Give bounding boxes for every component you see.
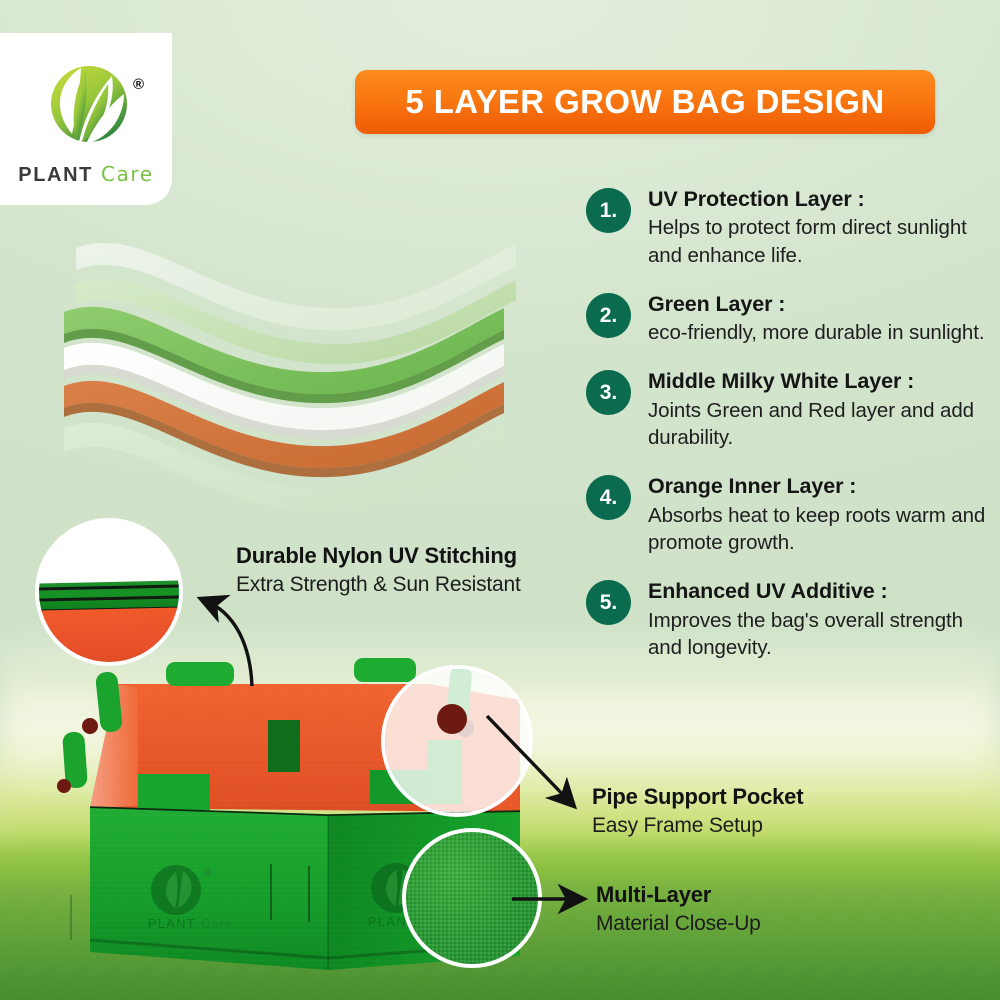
magnifier-circle-stitching [35,518,183,666]
feature-number-badge: 2. [586,293,631,338]
feature-title: Orange Inner Layer : [648,474,986,499]
feature-body: UV Protection Layer : Helps to protect f… [648,186,986,269]
svg-text:PLANT: PLANT [148,916,196,931]
callout-stitching: Durable Nylon UV Stitching Extra Strengt… [236,543,566,599]
brand-name-primary: PLANT [18,164,93,187]
feature-body: Orange Inner Layer : Absorbs heat to kee… [648,473,986,556]
brand-wordmark: PLANT Care [18,162,153,187]
feature-description: eco-friendly, more durable in sunlight. [648,319,984,346]
leaf-circle-logo-icon: ® [34,54,138,158]
svg-text:®: ® [204,868,212,879]
feature-body: Enhanced UV Additive : Improves the bag'… [648,578,986,661]
callout-multi-layer: Multi-Layer Material Close-Up [596,882,896,938]
infographic-canvas: PLANT Care ® PLANT Care ® [0,0,1000,1000]
callout-title: Durable Nylon UV Stitching [236,543,566,569]
stitch-thread-line [35,584,183,591]
feature-number-badge: 4. [586,475,631,520]
feature-number-badge: 3. [586,370,631,415]
feature-title: Green Layer : [648,292,984,317]
feature-item-1: 1. UV Protection Layer : Helps to protec… [586,186,986,269]
stitch-white-area [39,522,179,586]
feature-item-3: 3. Middle Milky White Layer : Joints Gre… [586,368,986,451]
stitch-thread-line [35,596,183,603]
callout-subtitle: Easy Frame Setup [592,813,892,839]
title-banner: 5 LAYER GROW BAG DESIGN [355,70,935,134]
feature-list: 1. UV Protection Layer : Helps to protec… [586,186,986,683]
feature-title: Enhanced UV Additive : [648,579,986,604]
feature-title: Middle Milky White Layer : [648,369,986,394]
feature-description: Helps to protect form direct sunlight an… [648,214,986,269]
stitch-orange-area [35,607,183,666]
layer-stack-illustration [58,196,578,536]
feature-description: Improves the bag's overall strength and … [648,607,986,662]
brand-name-secondary: Care [101,162,154,186]
callout-subtitle: Extra Strength & Sun Resistant [236,572,566,598]
pipe-highlight-veil [385,669,529,813]
page-title: 5 LAYER GROW BAG DESIGN [405,83,884,121]
magnifier-circle-pipe [381,665,533,817]
feature-number-badge: 5. [586,580,631,625]
pipe-opening-icon [437,704,467,734]
feature-body: Middle Milky White Layer : Joints Green … [648,368,986,451]
feature-item-2: 2. Green Layer : eco-friendly, more dura… [586,291,986,347]
feature-description: Absorbs heat to keep roots warm and prom… [648,502,986,557]
callout-title: Pipe Support Pocket [592,784,892,810]
magnifier-circle-material [402,828,542,968]
registered-trademark-icon: ® [133,76,144,93]
svg-text:Care: Care [201,916,233,931]
feature-number-badge: 1. [586,188,631,233]
callout-pipe-support: Pipe Support Pocket Easy Frame Setup [592,784,892,840]
callout-subtitle: Material Close-Up [596,911,896,937]
callout-title: Multi-Layer [596,882,896,908]
feature-title: UV Protection Layer : [648,187,986,212]
feature-description: Joints Green and Red layer and add durab… [648,397,986,452]
feature-item-5: 5. Enhanced UV Additive : Improves the b… [586,578,986,661]
brand-logo-card: ® PLANT Care [0,33,172,205]
feature-body: Green Layer : eco-friendly, more durable… [648,291,984,347]
feature-item-4: 4. Orange Inner Layer : Absorbs heat to … [586,473,986,556]
